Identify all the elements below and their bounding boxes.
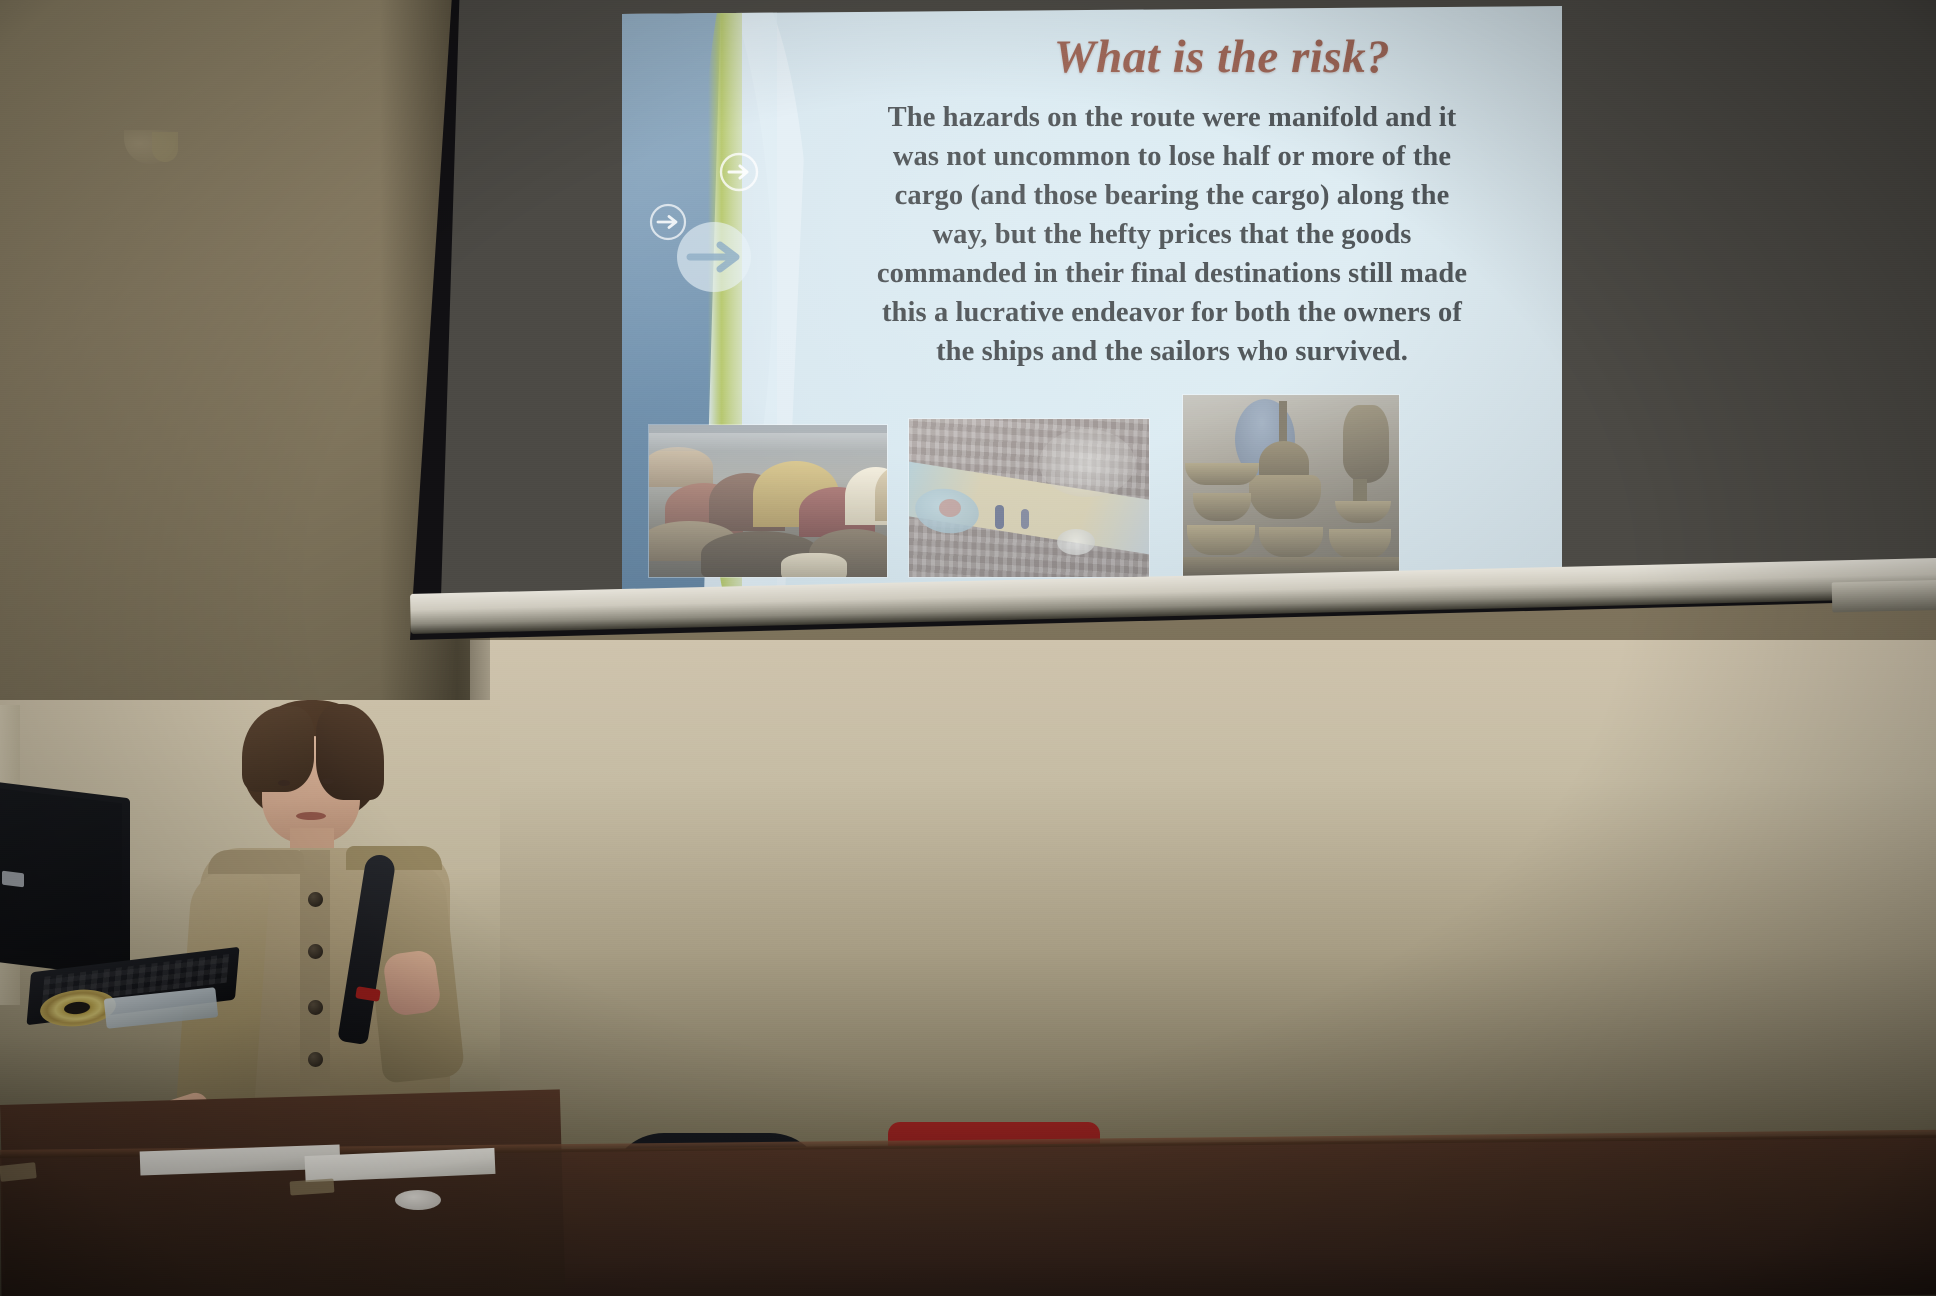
slide-body-line: was not uncommon to lose half or more of… [812,137,1532,176]
lecture-room-scene: What is the risk? The hazards on the rou… [0,0,1936,1296]
desk-marker[interactable] [395,1190,441,1210]
jacket-button [308,1000,323,1015]
slide-body-line: way, but the hefty prices that the goods [812,215,1532,254]
laptop-badge [2,871,24,888]
arrow-circle-icon-upper [718,151,760,193]
presenter-hair-left [242,706,314,792]
projection-screen: What is the risk? The hazards on the rou… [400,0,1936,670]
conference-desk-left [0,1089,565,1296]
projected-slide: What is the risk? The hazards on the rou… [622,6,1562,606]
jacket-button [308,892,323,907]
presenter-jacket-placket [300,850,330,1110]
projection-screen-roller-end [1832,580,1936,613]
photo-brassware [1182,394,1400,578]
presenter-hair-right [316,704,384,800]
presenter-eye-left [278,780,290,786]
slide-body-line: commanded in their final destinations st… [812,254,1532,293]
presenter-hand-right [382,949,442,1018]
slide-title: What is the risk? [922,30,1522,84]
slide-body-line: The hazards on the route were manifold a… [812,98,1532,137]
laptop[interactable] [0,782,130,979]
arrow-circle-icon-filled [676,221,752,293]
photo-spice-market [648,424,888,578]
slide-body-line: this a lucrative endeavor for both the o… [812,293,1532,332]
slide-body-line: the ships and the sailors who survived. [812,332,1532,371]
jacket-button [308,944,323,959]
photo-textiles [908,418,1150,578]
jacket-button [308,1052,323,1067]
slide-body-line: cargo (and those bearing the cargo) alon… [812,176,1532,215]
wall-fixture-secondary-icon [152,132,178,162]
lower-wall [470,640,1936,1200]
presenter-mouth [296,812,326,820]
presenter-eye-right [322,778,334,784]
slide-body-text: The hazards on the route were manifold a… [812,98,1532,371]
presenter-shoulder-left [208,850,304,874]
